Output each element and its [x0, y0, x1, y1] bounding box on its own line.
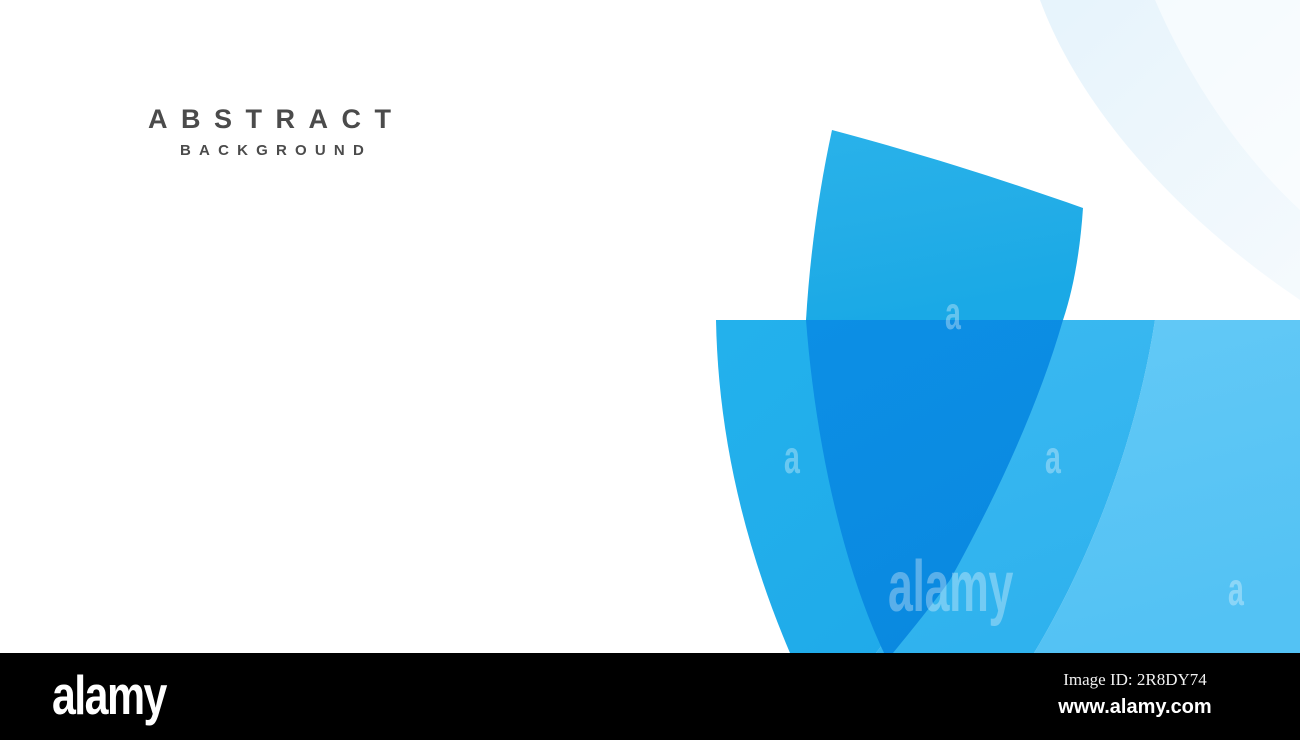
image-id-label: Image ID: 2R8DY74 — [1010, 668, 1260, 693]
headline-primary: ABSTRACT — [148, 106, 668, 133]
abstract-artwork: ABSTRACT BACKGROUND alamy a a a a — [0, 0, 1300, 653]
headline-block: ABSTRACT BACKGROUND — [148, 106, 668, 158]
stock-photo-footer-bar: alamy Image ID: 2R8DY74 www.alamy.com — [0, 653, 1300, 740]
abstract-shapes-svg — [0, 0, 1300, 653]
website-link[interactable]: www.alamy.com — [1010, 693, 1260, 722]
footer-meta: Image ID: 2R8DY74 www.alamy.com — [1010, 668, 1260, 722]
alamy-logo[interactable]: alamy — [52, 668, 166, 723]
screenshot-root: ABSTRACT BACKGROUND alamy a a a a alamy … — [0, 0, 1300, 740]
top-tilted-panel — [806, 130, 1083, 320]
headline-secondary: BACKGROUND — [180, 143, 668, 158]
